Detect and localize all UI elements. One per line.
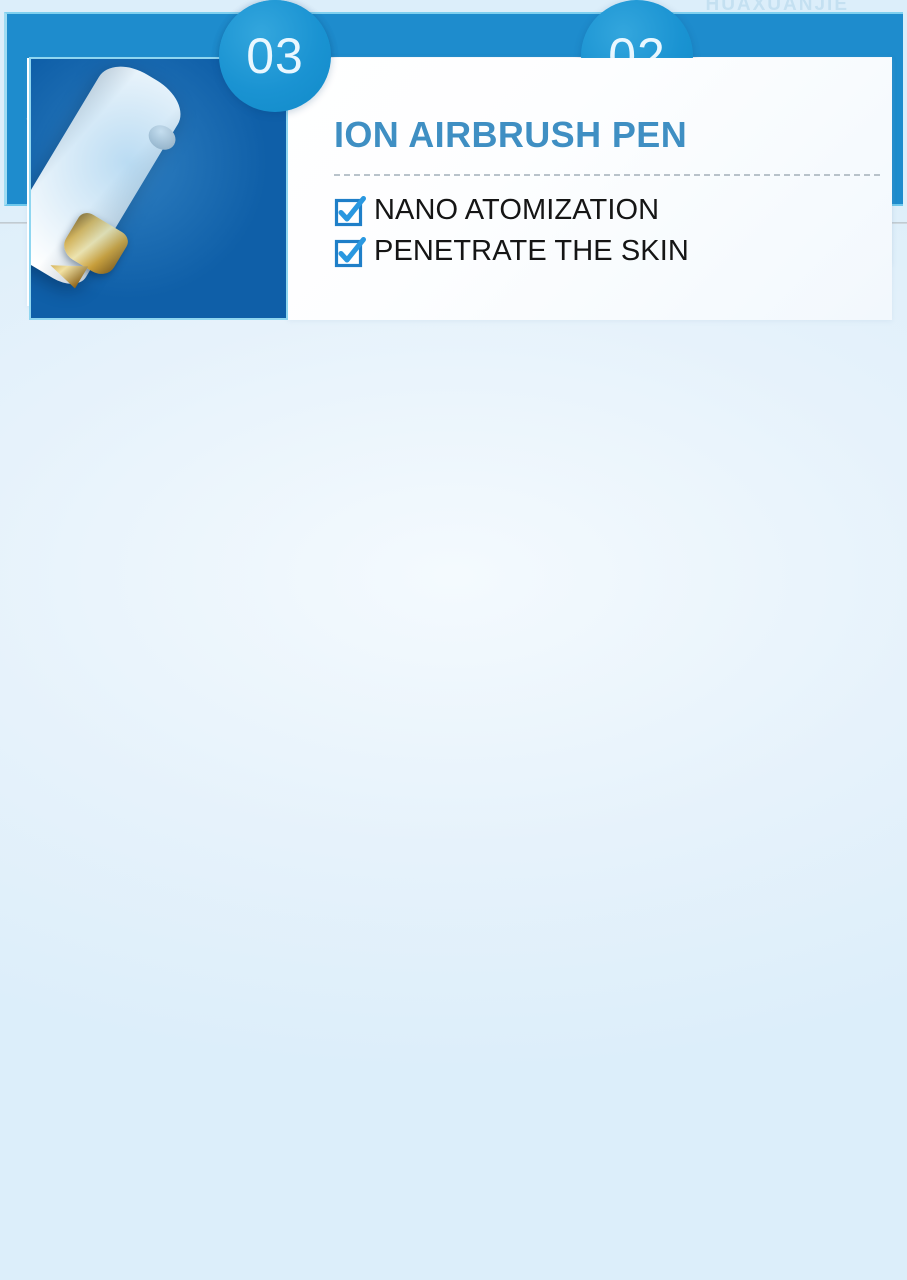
checkbox-checked-icon [334, 237, 365, 268]
feature-card-03-divider [334, 174, 880, 176]
bullet-label: NANO ATOMIZATION [374, 192, 659, 229]
feature-card-03-content: ION AIRBRUSH PEN NANO ATOMIZATION [334, 110, 880, 273]
list-item: PENETRATE THE SKIN [334, 233, 880, 270]
feature-card-03-bullets: NANO ATOMIZATION PENETRATE THE SKIN [334, 192, 880, 270]
step-number-badge-03: 03 [219, 0, 331, 112]
bullet-label: PENETRATE THE SKIN [374, 233, 689, 270]
checkbox-checked-icon [334, 196, 365, 227]
infographic-page: HUAXUANJIE Six high-profile beauty funct… [0, 0, 907, 1280]
list-item: NANO ATOMIZATION [334, 192, 880, 229]
feature-card-03-title: ION AIRBRUSH PEN [334, 110, 880, 160]
